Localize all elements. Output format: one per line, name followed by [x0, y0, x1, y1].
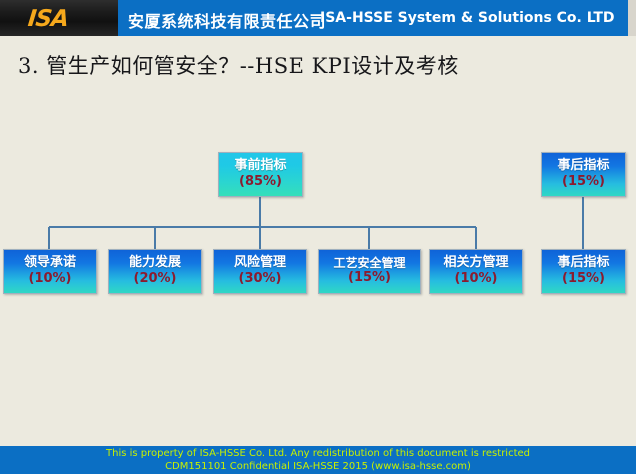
node-child-risk-management[interactable]: 风险管理 (30%): [213, 249, 307, 294]
node-label: 能力发展: [129, 256, 181, 270]
node-label: 风险管理: [234, 256, 286, 270]
node-child-lagging-indicators[interactable]: 事后指标 (15%): [541, 249, 626, 294]
node-percent: (15%): [562, 175, 605, 190]
node-percent: (15%): [348, 271, 391, 286]
slide-canvas: ISA 安厦系统科技有限责任公司 ISA-HSSE System & Solut…: [0, 0, 636, 474]
node-label: 事前指标: [234, 159, 286, 173]
node-child-capability-development[interactable]: 能力发展 (20%): [108, 249, 202, 294]
node-label: 工艺安全管理: [333, 257, 405, 270]
node-label: 事后指标: [557, 159, 609, 173]
footer-bar: This is property of ISA-HSSE Co. Ltd. An…: [0, 446, 636, 474]
node-percent: (30%): [239, 272, 282, 287]
node-label: 事后指标: [557, 256, 609, 270]
org-chart-diagram: 事前指标 (85%) 事后指标 (15%) 领导承诺 (10%) 能力发展 (2…: [0, 0, 636, 474]
node-parent-leading-indicators[interactable]: 事前指标 (85%): [218, 152, 303, 197]
node-percent: (10%): [455, 272, 498, 287]
node-label: 相关方管理: [443, 256, 508, 270]
node-label: 领导承诺: [24, 256, 76, 270]
node-child-leadership-commitment[interactable]: 领导承诺 (10%): [3, 249, 97, 294]
node-percent: (10%): [29, 272, 72, 287]
footer-document-line: CDM151101 Confidential ISA-HSSE 2015 (ww…: [0, 460, 636, 473]
node-percent: (85%): [239, 175, 282, 190]
footer-copyright-line: This is property of ISA-HSSE Co. Ltd. An…: [0, 446, 636, 460]
node-percent: (15%): [562, 272, 605, 287]
connector-lines: [0, 0, 636, 474]
node-child-contractor-management[interactable]: 相关方管理 (10%): [429, 249, 523, 294]
node-child-process-safety-management[interactable]: 工艺安全管理 (15%): [318, 249, 421, 294]
node-parent-lagging-indicators[interactable]: 事后指标 (15%): [541, 152, 626, 197]
node-percent: (20%): [134, 272, 177, 287]
